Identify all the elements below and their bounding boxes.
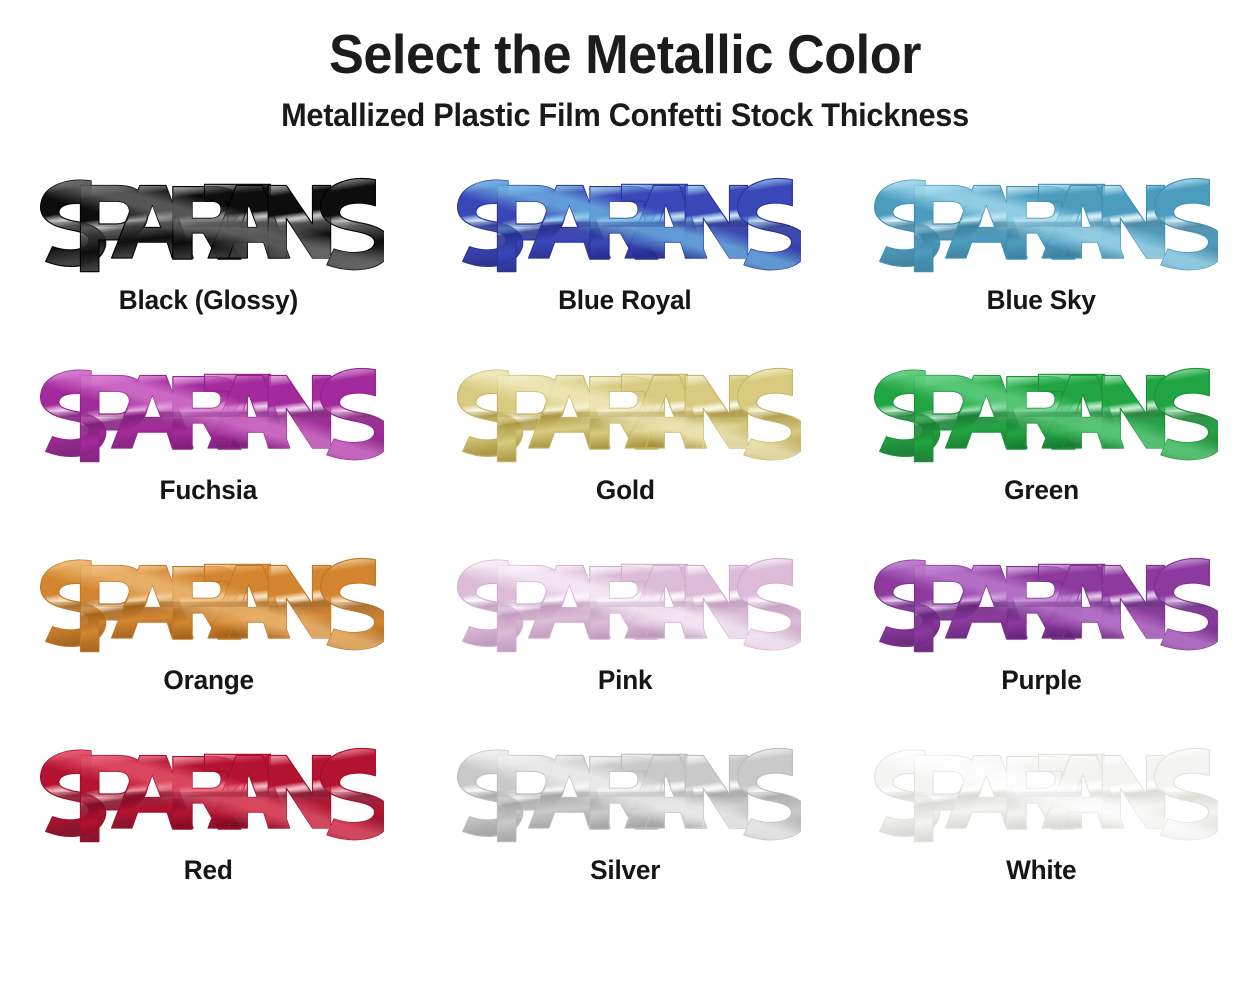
word-art-preview-silver[interactable] [445,739,805,849]
color-swatch-fuchsia[interactable]: Fuchsia [0,359,417,549]
word-art-preview-pink[interactable] [445,549,805,659]
word-art-spartans [32,742,384,846]
color-swatch-label-green: Green [1004,475,1079,506]
word-art-spartans [449,362,801,466]
color-swatch-grid: Black (Glossy)Blue RoyalBlue SkyFuchsiaG… [0,169,1250,929]
word-art-spartans [866,552,1218,656]
color-swatch-label-blue-royal: Blue Royal [558,285,691,316]
color-swatch-blue-royal[interactable]: Blue Royal [417,169,834,359]
word-art-spartans [32,362,384,466]
page-header: Select the Metallic Color Metallized Pla… [0,0,1250,133]
word-art-spartans [866,362,1218,466]
color-swatch-pink[interactable]: Pink [417,549,834,739]
word-art-preview-purple[interactable] [862,549,1222,659]
word-art-preview-blue-royal[interactable] [445,169,805,279]
color-swatch-blue-sky[interactable]: Blue Sky [833,169,1250,359]
word-art-spartans [449,552,801,656]
word-art-spartans [449,172,801,276]
color-swatch-label-silver: Silver [590,855,660,886]
color-swatch-label-pink: Pink [598,665,653,696]
color-swatch-purple[interactable]: Purple [833,549,1250,739]
color-swatch-label-fuchsia: Fuchsia [160,475,258,506]
word-art-spartans [866,742,1218,846]
color-swatch-label-white: White [1006,855,1076,886]
color-swatch-white[interactable]: White [833,739,1250,929]
word-art-preview-red[interactable] [28,739,388,849]
color-swatch-label-black-glossy: Black (Glossy) [119,285,298,316]
word-art-preview-blue-sky[interactable] [862,169,1222,279]
color-swatch-label-orange: Orange [163,665,254,696]
word-art-spartans [866,172,1218,276]
word-art-preview-fuchsia[interactable] [28,359,388,469]
color-swatch-label-red: Red [184,855,233,886]
color-swatch-label-blue-sky: Blue Sky [987,285,1096,316]
color-swatch-label-purple: Purple [1001,665,1081,696]
word-art-spartans [32,552,384,656]
word-art-spartans [449,742,801,846]
color-swatch-green[interactable]: Green [833,359,1250,549]
color-swatch-black-glossy[interactable]: Black (Glossy) [0,169,417,359]
color-swatch-red[interactable]: Red [0,739,417,929]
page-subtitle: Metallized Plastic Film Confetti Stock T… [25,98,1225,133]
color-swatch-label-gold: Gold [596,475,655,506]
color-swatch-gold[interactable]: Gold [417,359,834,549]
word-art-preview-black-glossy[interactable] [28,169,388,279]
color-swatch-silver[interactable]: Silver [417,739,834,929]
word-art-preview-orange[interactable] [28,549,388,659]
metallic-color-selector-page: Select the Metallic Color Metallized Pla… [0,0,1250,1000]
color-swatch-orange[interactable]: Orange [0,549,417,739]
word-art-preview-gold[interactable] [445,359,805,469]
word-art-spartans [32,172,384,276]
word-art-preview-white[interactable] [862,739,1222,849]
word-art-preview-green[interactable] [862,359,1222,469]
page-title: Select the Metallic Color [31,26,1219,84]
